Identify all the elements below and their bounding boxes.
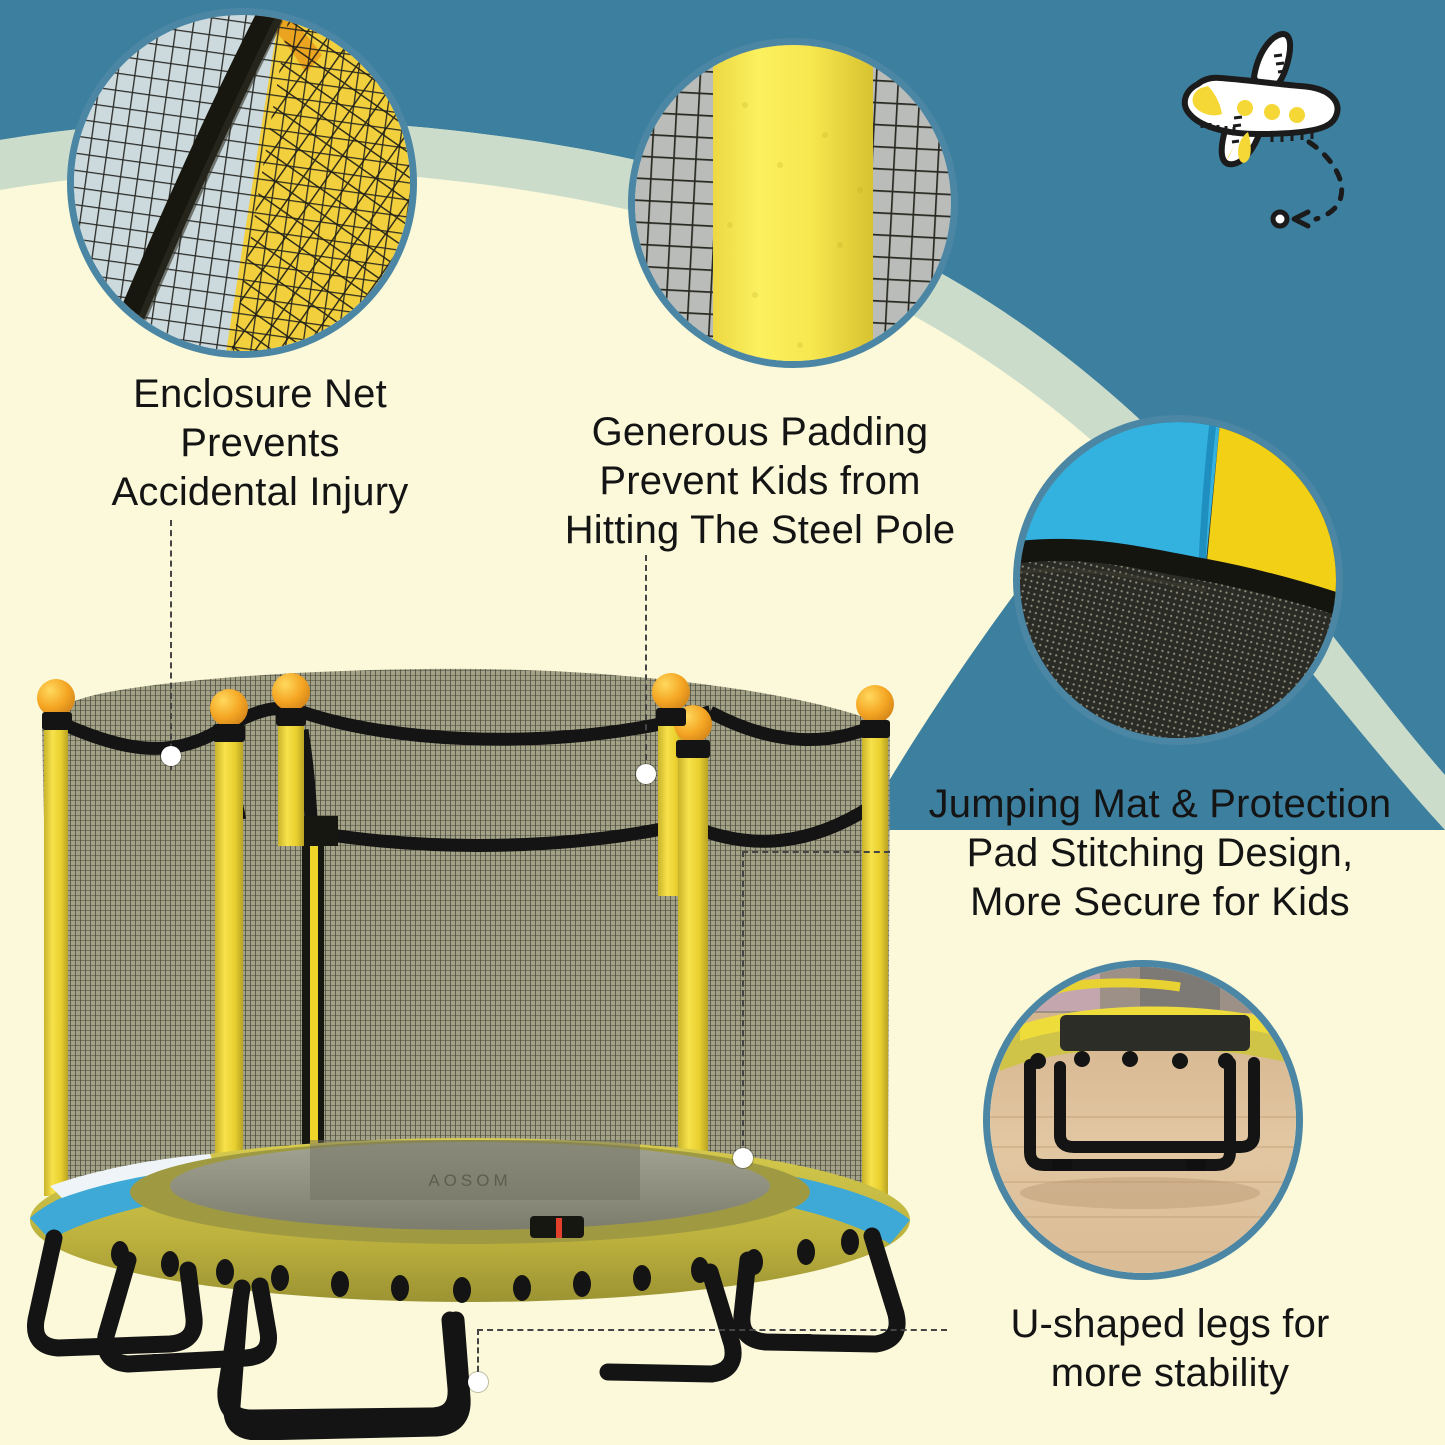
feature-photo-enclosure-net — [67, 8, 417, 358]
callout-dot-mat-stitching — [733, 1148, 753, 1168]
svg-text:AOSOM: AOSOM — [428, 1171, 511, 1190]
product-image-trampoline: AOSOM — [10, 620, 950, 1440]
plane-trail-dashes — [1309, 142, 1342, 219]
caption-enclosure-net: Enclosure Net Prevents Accidental Injury — [40, 370, 480, 516]
photo-generous-padding — [635, 45, 951, 361]
callout-dot-u-legs — [468, 1372, 488, 1392]
photo-u-shaped-legs — [990, 967, 1296, 1273]
plane-trail-origin-dot — [1273, 212, 1287, 226]
photo-mat-stitching — [1020, 422, 1336, 738]
infographic-canvas: AOSOM — [0, 0, 1445, 1445]
callout-line-u-legs-horizontal — [477, 1329, 947, 1331]
callout-dot-enclosure-net — [161, 746, 181, 766]
callout-line-enclosure-net — [170, 520, 172, 770]
callout-line-mat-stitching-vertical — [742, 851, 744, 1156]
feature-photo-u-shaped-legs — [983, 960, 1303, 1280]
photo-enclosure-net — [74, 15, 410, 351]
feature-photo-mat-stitching — [1013, 415, 1343, 745]
caption-mat-stitching: Jumping Mat & Protection Pad Stitching D… — [880, 780, 1440, 926]
callout-line-mat-stitching-horizontal — [742, 851, 890, 853]
caption-u-shaped-legs: U-shaped legs for more stability — [960, 1300, 1380, 1398]
plane-trail-arrow — [1294, 212, 1308, 226]
airplane-icon — [1176, 22, 1366, 237]
caption-generous-padding: Generous Padding Prevent Kids from Hitti… — [495, 408, 1025, 554]
callout-dot-generous-padding — [636, 764, 656, 784]
feature-photo-generous-padding — [628, 38, 958, 368]
callout-line-generous-padding — [645, 555, 647, 770]
